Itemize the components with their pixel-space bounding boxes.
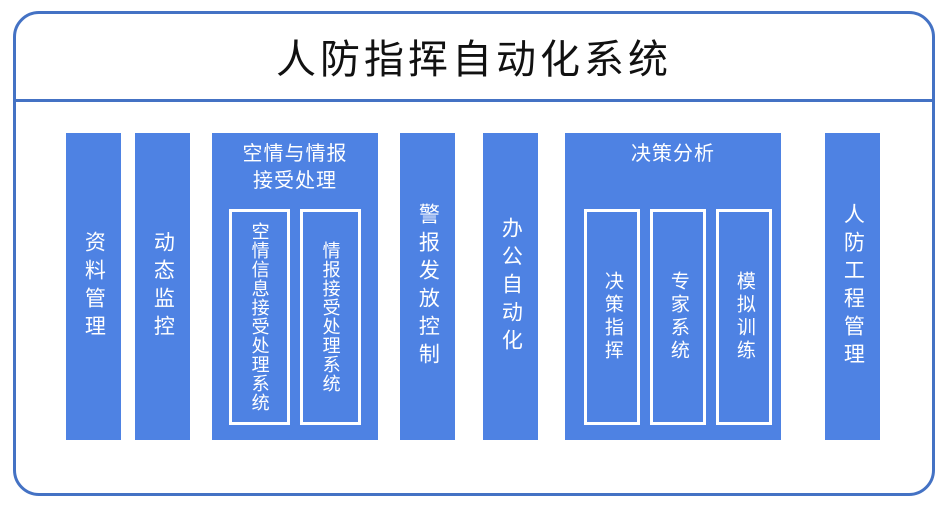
group-heading-air-situation-intel: 空情与情报 接受处理 bbox=[212, 141, 378, 195]
subgroup-list-decision-analysis: 决策指挥 专家系统 模拟训练 bbox=[565, 209, 781, 425]
diagram-title-band: 人防指挥自动化系统 bbox=[13, 11, 935, 100]
module-label-data-management: 资料管理 bbox=[79, 231, 109, 343]
group-heading-line1: 决策分析 bbox=[565, 141, 781, 168]
submodule-decision-command[interactable]: 决策指挥 bbox=[584, 209, 640, 425]
submodule-expert-system[interactable]: 专家系统 bbox=[650, 209, 706, 425]
submodule-label-simulation-training: 模拟训练 bbox=[731, 271, 757, 363]
module-data-management[interactable]: 资料管理 bbox=[66, 133, 121, 440]
group-heading-line1: 空情与情报 bbox=[212, 141, 378, 168]
submodule-label-expert-system: 专家系统 bbox=[665, 271, 691, 363]
module-civil-defense-engineering[interactable]: 人防工程管理 bbox=[825, 133, 880, 440]
module-group-decision-analysis[interactable]: 决策分析 决策指挥 专家系统 模拟训练 bbox=[565, 133, 781, 440]
module-label-dynamic-monitoring: 动态监控 bbox=[148, 231, 178, 343]
submodule-label-air-info-system: 空情信息接受处理系统 bbox=[247, 222, 271, 412]
submodule-label-decision-command: 决策指挥 bbox=[599, 271, 625, 363]
group-heading-decision-analysis: 决策分析 bbox=[565, 141, 781, 168]
submodule-label-intel-receive-system: 情报接受处理系统 bbox=[318, 241, 342, 393]
group-heading-line2: 接受处理 bbox=[212, 168, 378, 195]
module-office-automation[interactable]: 办公自动化 bbox=[483, 133, 538, 440]
title-divider bbox=[15, 99, 933, 102]
module-label-civil-defense-engineering: 人防工程管理 bbox=[838, 203, 868, 371]
page-title: 人防指挥自动化系统 bbox=[276, 27, 672, 85]
module-alarm-release-control[interactable]: 警报发放控制 bbox=[400, 133, 455, 440]
submodule-intel-receive-system[interactable]: 情报接受处理系统 bbox=[300, 209, 361, 425]
module-dynamic-monitoring[interactable]: 动态监控 bbox=[135, 133, 190, 440]
module-group-air-situation-intel[interactable]: 空情与情报 接受处理 空情信息接受处理系统 情报接受处理系统 bbox=[212, 133, 378, 440]
subgroup-list-air-situation-intel: 空情信息接受处理系统 情报接受处理系统 bbox=[212, 209, 378, 425]
modules-area: 资料管理 动态监控 空情与情报 接受处理 空情信息接受处理系统 情报接受处理系统 bbox=[16, 104, 934, 494]
module-label-alarm-release-control: 警报发放控制 bbox=[413, 203, 443, 371]
submodule-simulation-training[interactable]: 模拟训练 bbox=[716, 209, 772, 425]
module-label-office-automation: 办公自动化 bbox=[496, 217, 526, 357]
civil-defense-system-diagram: 人防指挥自动化系统 资料管理 动态监控 空情与情报 接受处理 空情信息接受处理系… bbox=[0, 0, 952, 515]
submodule-air-info-system[interactable]: 空情信息接受处理系统 bbox=[229, 209, 290, 425]
